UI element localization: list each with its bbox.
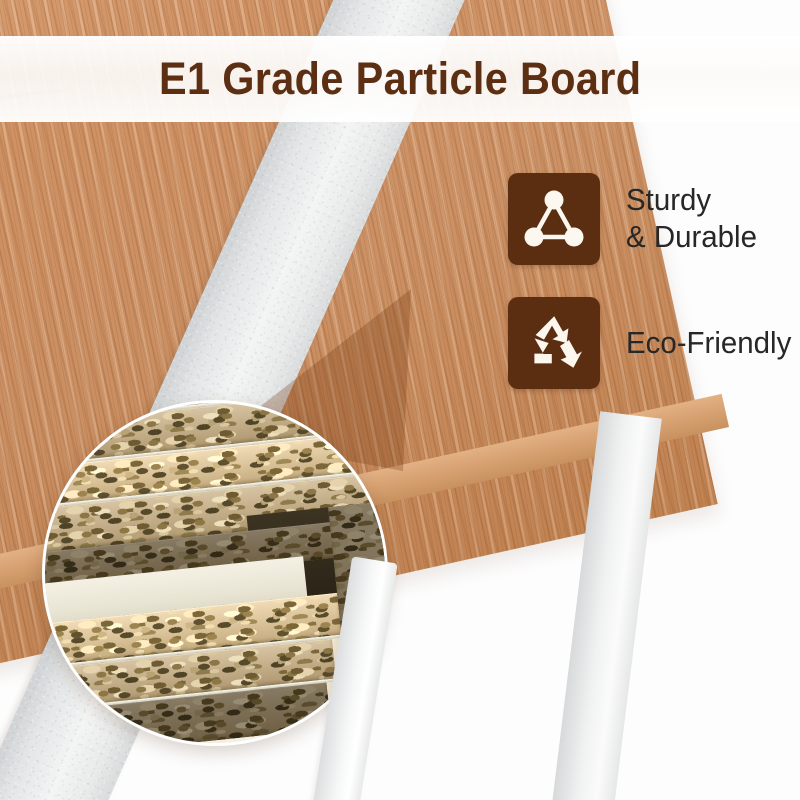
feature-item-eco-friendly: Eco-Friendly: [508, 297, 800, 389]
feature-badge-tile: [508, 173, 600, 265]
title-banner: E1 Grade Particle Board: [0, 36, 800, 122]
feature-label: Eco-Friendly: [626, 325, 791, 362]
page-title: E1 Grade Particle Board: [159, 53, 641, 105]
feature-list: Sturdy & Durable Eco-Friendly: [508, 173, 800, 389]
feature-label: Sturdy & Durable: [626, 182, 757, 255]
feature-item-sturdy-durable: Sturdy & Durable: [508, 173, 800, 265]
triangle-nodes-icon: [522, 189, 586, 249]
feature-badge-tile: [508, 297, 600, 389]
recycle-icon: [522, 312, 586, 374]
product-feature-graphic: E1 Grade Particle Board Sturdy & Durable: [0, 0, 800, 800]
